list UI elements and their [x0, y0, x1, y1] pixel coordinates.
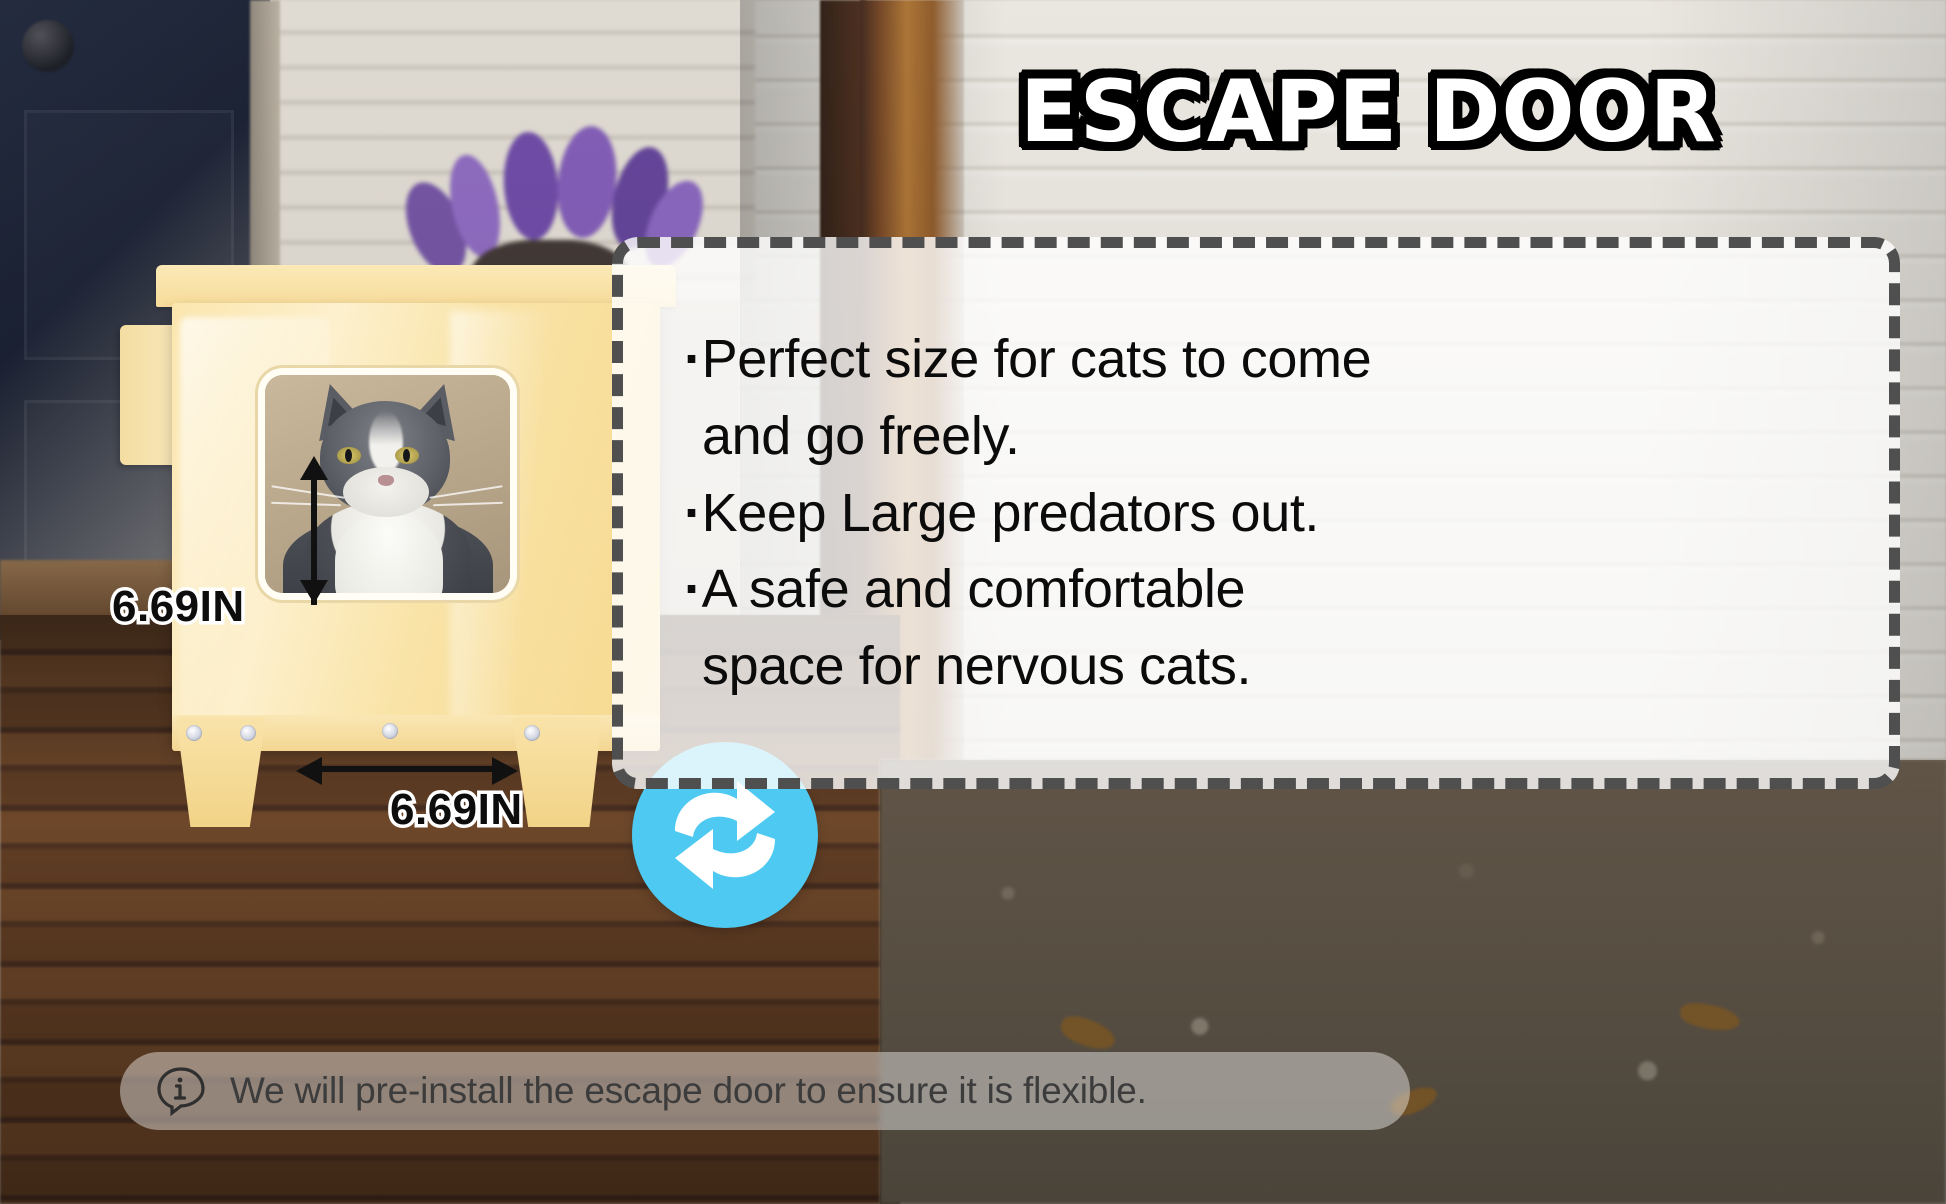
screw: [382, 723, 398, 739]
screw: [186, 725, 202, 741]
cat-nose: [378, 475, 394, 486]
info-note-text: We will pre-install the escape door to e…: [230, 1070, 1147, 1112]
dimension-label-height: 6.69IN: [112, 582, 245, 632]
cat-face-blaze: [369, 411, 403, 473]
bullet-dot: ·: [684, 483, 702, 543]
features-panel-content: ·Perfect size for cats to come and go fr…: [612, 237, 1900, 789]
bullet-text: Perfect size for cats to come: [702, 329, 1372, 389]
bullet-text: and go freely.: [702, 406, 1020, 466]
screw: [240, 725, 256, 741]
cabinet-top: [156, 265, 676, 307]
bullet-item-continuation: space for nervous cats.: [684, 628, 1830, 705]
dimension-arrow-down: [300, 580, 328, 604]
promo-image-stage: 6.69IN 6.69IN ·Perfect size for cats to …: [0, 0, 1946, 1204]
cat-pupil-right: [403, 449, 410, 462]
dimension-arrow-left: [296, 757, 322, 785]
dimension-arrow-right: [492, 757, 518, 785]
info-speech-bubble-icon: [156, 1066, 206, 1116]
dimension-label-width: 6.69IN: [390, 785, 523, 835]
bullet-item-continuation: and go freely.: [684, 398, 1830, 475]
cat-pupil-left: [345, 449, 352, 462]
bullet-text: A safe and comfortable: [702, 559, 1246, 619]
bullet-text: Keep Large predators out.: [702, 483, 1319, 543]
info-note-bar: We will pre-install the escape door to e…: [120, 1052, 1410, 1130]
bullet-dot: ·: [684, 329, 702, 389]
dimension-line-horizontal: [320, 766, 498, 772]
bullet-text: space for nervous cats.: [702, 636, 1251, 696]
escape-door-opening: [265, 375, 510, 593]
dimension-arrow-up: [300, 456, 328, 480]
bullet-item: ·A safe and comfortable: [684, 551, 1830, 628]
cat-white-bib: [335, 515, 443, 593]
page-title: ESCAPE DOOR: [1020, 62, 1920, 162]
bullet-item: ·Perfect size for cats to come: [684, 321, 1830, 398]
bullet-dot: ·: [684, 559, 702, 619]
screw: [524, 725, 540, 741]
bullet-item: ·Keep Large predators out.: [684, 475, 1830, 552]
cat-inside: [265, 375, 510, 593]
